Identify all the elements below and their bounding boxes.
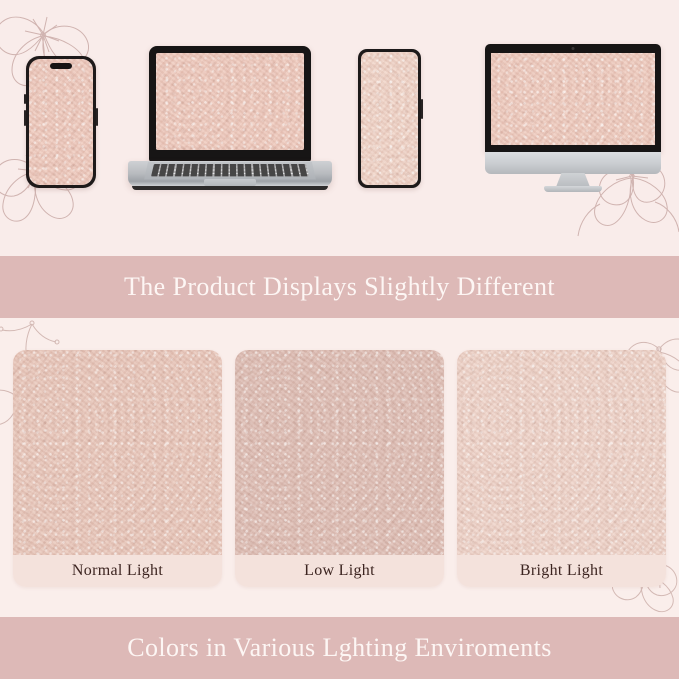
- desktop-monitor-mockup: [485, 44, 661, 192]
- monitor-chin: [485, 152, 661, 174]
- bottom-banner-text: Colors in Various Lghting Enviroments: [127, 633, 552, 663]
- phone-power-button: [96, 108, 98, 126]
- device-mockup-section: [0, 0, 679, 256]
- product-color-disclaimer-graphic: The Product Displays Slightly Different: [0, 0, 679, 679]
- monitor-stand-base: [544, 186, 602, 192]
- swatch-label: Low Light: [304, 562, 375, 580]
- tablet-screen-color-preview: [361, 52, 418, 185]
- swatch-bright-light: Bright Light: [457, 350, 666, 587]
- laptop-front-edge: [132, 186, 328, 190]
- monitor-stand-neck: [556, 173, 590, 187]
- swatch-label-strip: Bright Light: [457, 555, 666, 587]
- swatch-label-strip: Normal Light: [13, 555, 222, 587]
- tablet-power-button: [421, 99, 423, 119]
- top-banner: The Product Displays Slightly Different: [0, 256, 679, 318]
- swatch-color-area: [457, 350, 666, 555]
- swatch-label: Normal Light: [72, 562, 163, 580]
- swatch-color-area: [13, 350, 222, 555]
- top-banner-text: The Product Displays Slightly Different: [124, 272, 555, 302]
- swatch-label-strip: Low Light: [235, 555, 444, 587]
- laptop-trackpad: [204, 179, 256, 186]
- monitor-camera-icon: [572, 47, 575, 50]
- laptop-mockup: [128, 46, 332, 192]
- phone-volume-buttons: [24, 110, 26, 126]
- monitor-screen-color-preview: [491, 53, 655, 145]
- tablet-mockup: [358, 49, 421, 188]
- swatch-low-light: Low Light: [235, 350, 444, 587]
- swatch-label: Bright Light: [520, 562, 603, 580]
- monitor-bezel: [485, 44, 661, 152]
- laptop-lid: [149, 46, 311, 162]
- smartphone-mockup: [26, 56, 96, 188]
- laptop-screen-color-preview: [156, 53, 304, 150]
- lighting-swatch-section: Normal Light Low Light Bright Light: [0, 318, 679, 617]
- bottom-banner: Colors in Various Lghting Enviroments: [0, 617, 679, 679]
- laptop-keys: [151, 164, 309, 176]
- phone-mute-switch: [24, 94, 26, 104]
- swatch-color-area: [235, 350, 444, 555]
- phone-screen-color-preview: [29, 59, 93, 185]
- phone-dynamic-island: [50, 63, 72, 69]
- swatch-normal-light: Normal Light: [13, 350, 222, 587]
